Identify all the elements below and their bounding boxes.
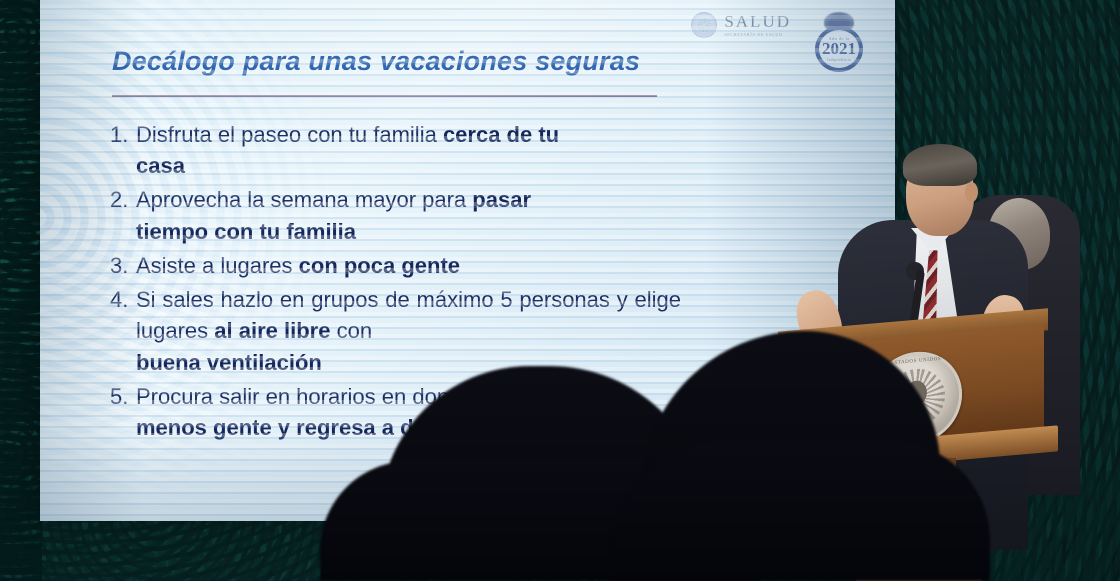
list-item-bold-text: pasar [472,187,531,212]
list-item-normal-text: Aprovecha la semana mayor para [136,187,472,212]
list-item-text: Si sales hazlo en grupos de máximo 5 per… [136,284,681,378]
mexican-eagle-seal-icon [691,12,717,38]
list-item-normal-text: Asiste a lugares [136,253,299,278]
speaker-ear [965,182,978,202]
list-item-number: 4. [110,284,136,378]
seal-bottom-text: Independencia [827,58,851,62]
salud-logo-text: SALUD SECRETARÍA DE SALUD [724,13,791,37]
list-item-number: 2. [110,184,136,246]
title-divider [112,95,657,97]
seal-year: 2021 [822,40,856,57]
list-item-text: Aprovecha la semana mayor para pasartiem… [136,184,681,246]
list-item: 4. Si sales hazlo en grupos de máximo 5 … [110,284,700,378]
list-item: 3. Asiste a lugares con poca gente [110,250,700,281]
list-item-number: 5. [110,381,136,443]
list-item: 1. Disfruta el paseo con tu familia cerc… [110,119,700,181]
salud-logo-name: SALUD [724,13,791,30]
list-item-bold-line2: tiempo con tu familia [136,216,681,247]
list-item-number: 1. [110,119,136,181]
list-item: 2. Aprovecha la semana mayor para pasart… [110,184,700,246]
list-item-tail-text: con [337,318,372,343]
list-item-bold-text: al aire libre [214,318,336,343]
list-item-bold-text: cerca de tu [443,122,559,147]
salud-logo: SALUD SECRETARÍA DE SALUD [691,12,791,38]
list-item-bold-line2: casa [136,150,681,181]
salud-logo-subtitle: SECRETARÍA DE SALUD [724,33,791,37]
list-item-bold-text: con poca gente [299,253,460,278]
seal-ring: Año de la 2021 Independencia [815,26,863,72]
press-conference-scene: SALUD SECRETARÍA DE SALUD Año de la 2021… [0,0,1120,581]
anniversary-seal-icon: Año de la 2021 Independencia [813,12,865,74]
slide-logo-row: SALUD SECRETARÍA DE SALUD Año de la 2021… [691,12,865,74]
list-item-number: 3. [110,250,136,281]
list-item-normal-text: Disfruta el paseo con tu familia [136,122,443,147]
list-item-text: Asiste a lugares con poca gente [136,250,681,281]
speaker-hair [903,144,977,186]
wall-decorative-band-left [0,0,42,581]
list-item-text: Disfruta el paseo con tu familia cerca d… [136,119,681,181]
